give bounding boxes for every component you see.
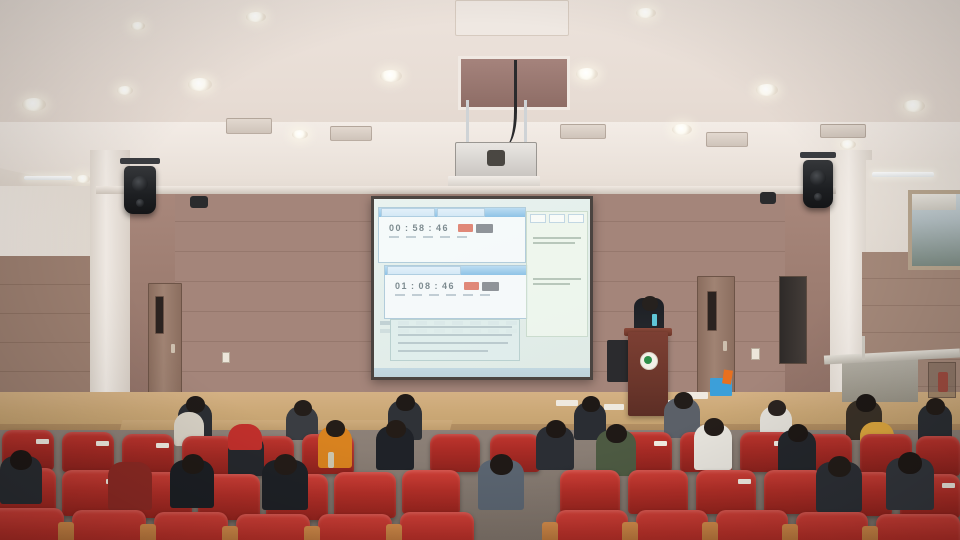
audience-head: [386, 420, 406, 438]
seat-number-tag: [942, 483, 955, 488]
recessed-downlight: [292, 130, 308, 139]
seat[interactable]: [628, 470, 688, 514]
light-switch-plate[interactable]: [751, 348, 760, 360]
note-line: [398, 326, 512, 328]
slide-taskbar: [374, 368, 590, 377]
timer-1-start-button[interactable]: [458, 224, 473, 232]
projection-screen: 00 : 58 : 46: [371, 196, 593, 380]
water-bottle: [328, 452, 334, 468]
wall-mount-bracket-left: [190, 196, 208, 208]
stage-side-chair[interactable]: [607, 340, 629, 382]
ceiling-air-vent: [226, 118, 272, 134]
ceiling-air-vent: [560, 124, 606, 139]
instruction-text-box: [390, 319, 520, 361]
footer-label: [423, 236, 433, 238]
orange-folder: [722, 369, 733, 384]
audience-head: [788, 424, 808, 442]
ceiling-air-vent: [330, 126, 372, 141]
side-panel-tab[interactable]: [568, 214, 584, 223]
speaker-left-bracket: [120, 158, 160, 164]
ceiling-access-panel: [455, 0, 569, 36]
wall-mount-bracket-right: [760, 192, 776, 204]
seat-armrest: [862, 526, 878, 540]
footer-label: [457, 236, 467, 238]
timer-1-seconds: 46: [436, 223, 449, 233]
projector-lift-rod: [466, 100, 469, 146]
timer-2-hours: 01: [395, 281, 408, 291]
audience-head: [856, 394, 876, 412]
door-handle[interactable]: [723, 341, 727, 351]
timer-window-2[interactable]: 01 : 08 : 46: [384, 265, 528, 319]
timer-1-stop-button[interactable]: [476, 224, 493, 233]
seat-armrest: [304, 526, 320, 540]
bullet-line: [533, 278, 581, 280]
audience-head: [606, 424, 627, 443]
strip-light-right: [872, 172, 934, 177]
seat[interactable]: [236, 514, 310, 540]
audience-head: [294, 400, 312, 416]
timer-2-footer-labels: [385, 293, 527, 296]
recessed-downlight: [756, 84, 778, 96]
presenter-head: [642, 296, 658, 311]
auditorium-seating: [0, 404, 960, 540]
note-line: [398, 350, 488, 352]
timer-2-sep-1: :: [411, 281, 416, 291]
microphone-stand: [862, 336, 865, 360]
bullet-line: [533, 242, 575, 244]
door-right-rear-open[interactable]: [779, 276, 807, 364]
audience-head: [582, 396, 600, 412]
audience-head: [274, 454, 297, 475]
door-handle[interactable]: [171, 344, 175, 353]
projector-lens-icon: [487, 150, 505, 166]
timer-2-stop-button[interactable]: [482, 282, 499, 291]
footer-label: [395, 294, 405, 296]
seat[interactable]: [402, 470, 460, 514]
window-tab[interactable]: [437, 208, 485, 217]
seat[interactable]: [400, 512, 474, 540]
door-left-stage[interactable]: [148, 283, 182, 395]
seat[interactable]: [796, 512, 868, 540]
recessed-downlight: [840, 140, 856, 149]
fire-extinguisher-cabinet: [928, 362, 956, 398]
window-title-bar[interactable]: [385, 266, 527, 275]
bullet-group-1: [527, 237, 587, 244]
speaker-driver-icon: [810, 170, 826, 186]
seat[interactable]: [72, 510, 146, 540]
seat[interactable]: [0, 508, 64, 540]
projector-cable: [488, 60, 517, 146]
seat-armrest: [140, 524, 156, 540]
note-line: [398, 342, 508, 344]
seat[interactable]: [430, 434, 480, 472]
side-panel-tab[interactable]: [549, 214, 565, 223]
timer-1-hours: 00: [389, 223, 402, 233]
door-vision-panel: [707, 291, 717, 331]
speaker-driver-icon: [132, 176, 148, 192]
recessed-downlight: [903, 100, 925, 112]
speaker-tweeter-icon: [814, 193, 822, 201]
recessed-downlight: [131, 22, 145, 30]
audience-head: [898, 452, 922, 474]
bullet-line: [533, 283, 570, 285]
seat-number-tag: [96, 441, 109, 446]
footer-label: [446, 294, 456, 296]
audience-head: [674, 392, 693, 409]
seat-number-tag: [654, 441, 667, 446]
seat[interactable]: [560, 470, 620, 514]
recessed-downlight: [117, 86, 133, 95]
audience-head: [186, 396, 205, 413]
audience-member: [108, 462, 152, 510]
footer-label: [389, 236, 399, 238]
audience-head: [546, 420, 566, 438]
audience-head: [768, 400, 786, 416]
speaker-tweeter-icon: [136, 199, 144, 207]
slide-notes-panel[interactable]: [526, 211, 588, 337]
seat[interactable]: [334, 472, 396, 518]
audience-head: [182, 454, 204, 474]
timer-1-sep-2: :: [429, 223, 434, 233]
side-panel-tab[interactable]: [530, 214, 546, 223]
footer-label: [406, 236, 416, 238]
bullet-group-2: [527, 278, 587, 285]
timer-1-display: 00 : 58 : 46: [379, 217, 525, 235]
ceiling-air-vent: [706, 132, 748, 147]
timer-1-minutes: 58: [413, 223, 426, 233]
seat[interactable]: [716, 510, 788, 540]
timer-1-sep-1: :: [405, 223, 410, 233]
presenter-lanyard: [652, 314, 657, 326]
window-blind: [912, 194, 956, 210]
audience-head: [926, 398, 945, 415]
light-switch-plate[interactable]: [222, 352, 230, 363]
strip-light-left: [24, 176, 72, 180]
timer-1-footer-labels: [379, 235, 525, 238]
side-panel-tabs[interactable]: [527, 212, 587, 225]
seat-number-tag: [738, 479, 751, 484]
audience-member: [228, 424, 262, 450]
seat-armrest: [58, 522, 74, 540]
window-tab[interactable]: [381, 208, 435, 217]
av-control-cabinet: [842, 358, 918, 402]
seat[interactable]: [696, 470, 756, 514]
recessed-downlight: [636, 8, 656, 18]
seat-armrest: [542, 522, 558, 540]
timer-2-display: 01 : 08 : 46: [385, 275, 527, 293]
speaker-right-bracket: [800, 152, 836, 158]
seat-armrest: [782, 524, 798, 540]
audience-head: [396, 394, 415, 411]
seat-armrest: [622, 522, 638, 540]
seat-armrest: [702, 522, 718, 540]
recessed-downlight: [380, 70, 402, 82]
seat-number-tag: [36, 439, 49, 444]
projector-lift-rod: [524, 100, 527, 146]
projected-slide-surface: 00 : 58 : 46: [374, 199, 590, 377]
recessed-downlight: [672, 124, 692, 135]
seat-armrest: [222, 526, 238, 540]
bullet-line: [533, 237, 581, 239]
recessed-downlight: [576, 68, 598, 80]
audience-head: [490, 454, 513, 475]
timer-2-seconds: 46: [442, 281, 455, 291]
speaker-left: [124, 166, 156, 214]
recessed-downlight: [246, 12, 266, 22]
window-tab[interactable]: [387, 266, 461, 275]
wall-cornice-trim: [96, 186, 836, 194]
seat[interactable]: [318, 514, 392, 540]
seat[interactable]: [556, 510, 628, 540]
recessed-downlight: [188, 78, 212, 91]
emblem-inner-mark: [644, 356, 652, 364]
footer-label: [480, 294, 490, 296]
timer-window-1[interactable]: 00 : 58 : 46: [378, 207, 526, 263]
audience-head: [828, 456, 851, 477]
footer-label: [429, 294, 439, 296]
seat[interactable]: [764, 470, 824, 514]
seat-number-tag: [156, 443, 169, 448]
door-vision-panel: [155, 296, 164, 334]
seat[interactable]: [636, 510, 708, 540]
footer-label: [463, 294, 473, 296]
auditorium-photo-scene: 00 : 58 : 46: [0, 0, 960, 540]
note-line: [398, 334, 512, 336]
audience-head: [10, 450, 32, 470]
footer-label: [440, 236, 450, 238]
ceiling-air-vent: [820, 124, 866, 138]
audience-head: [326, 420, 345, 437]
timer-2-minutes: 08: [419, 281, 432, 291]
recessed-downlight: [76, 175, 90, 183]
seat[interactable]: [876, 514, 960, 540]
seat[interactable]: [154, 512, 228, 540]
timer-2-sep-2: :: [435, 281, 440, 291]
seat-armrest: [386, 524, 402, 540]
timer-2-start-button[interactable]: [464, 282, 479, 290]
recessed-downlight: [22, 98, 46, 111]
audience-head: [704, 418, 724, 436]
seat[interactable]: [62, 432, 114, 472]
window-title-bar[interactable]: [379, 208, 525, 217]
speaker-right: [803, 160, 833, 208]
footer-label: [412, 294, 422, 296]
